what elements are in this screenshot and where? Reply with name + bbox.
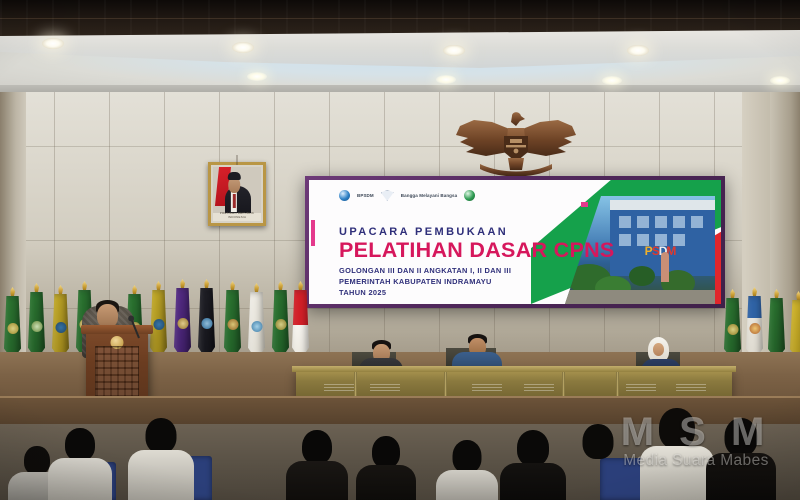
flag-cloth bbox=[768, 298, 785, 360]
ceremonial-flag bbox=[224, 290, 241, 360]
attendee bbox=[500, 430, 566, 500]
head-table-top bbox=[292, 366, 736, 372]
slide-logo-row: BPSDM Bangga Melayani Bangsa bbox=[339, 190, 475, 201]
attendee-head bbox=[659, 408, 695, 449]
attendee-head bbox=[583, 424, 614, 459]
monument-statue bbox=[661, 252, 669, 282]
downlight bbox=[436, 75, 456, 84]
attendee-head bbox=[725, 418, 758, 456]
downlight bbox=[770, 76, 790, 85]
attendee-head bbox=[517, 430, 549, 466]
portrait-image: PRESIDEN REPUBLIK INDONESIA bbox=[213, 167, 261, 221]
attendee-torso bbox=[48, 458, 112, 500]
head-table-vent bbox=[676, 383, 706, 391]
head-table-vent bbox=[524, 383, 554, 391]
flag-emblem bbox=[275, 319, 286, 330]
led-slide: BPSDM BPSDM Bangga Melayani Bangsa bbox=[309, 180, 721, 304]
portrait-hook bbox=[237, 155, 238, 165]
attendee bbox=[356, 436, 416, 500]
national-flag-merah-putih bbox=[292, 290, 309, 360]
attendee-head bbox=[302, 430, 332, 464]
wall-seam bbox=[0, 146, 800, 147]
flag-emblem bbox=[749, 323, 760, 334]
ceremonial-flag bbox=[272, 290, 289, 360]
head-table-vent bbox=[370, 383, 400, 391]
logo-bpsdm-label: BPSDM bbox=[357, 193, 374, 199]
slide-headline: PELATIHAN DASAR CPNS bbox=[339, 239, 609, 262]
portrait-tie bbox=[233, 194, 235, 208]
flag-bank-left bbox=[0, 288, 305, 360]
flag-emblem bbox=[31, 321, 42, 332]
portrait-peci-cap bbox=[228, 172, 240, 180]
attendee bbox=[128, 418, 194, 500]
attendee-torso bbox=[286, 461, 348, 500]
head-table-vent bbox=[626, 383, 656, 391]
head-table-vent bbox=[472, 383, 502, 391]
attendee-torso bbox=[500, 463, 566, 500]
flag-bank-right bbox=[724, 292, 800, 360]
flag-emblem bbox=[227, 319, 238, 330]
ceremonial-flag bbox=[52, 294, 69, 360]
building-window bbox=[619, 216, 631, 228]
flag-emblem bbox=[251, 321, 262, 332]
attendee bbox=[640, 408, 714, 500]
flag-emblem bbox=[727, 324, 738, 335]
attendee-torso bbox=[356, 465, 416, 500]
building-window bbox=[655, 216, 667, 228]
slide-accent-bar bbox=[311, 220, 315, 246]
slide-kicker: UPACARA PEMBUKAAN bbox=[339, 226, 609, 238]
downlight bbox=[602, 76, 622, 85]
building-sign-label: BPSDM bbox=[637, 244, 675, 258]
slide-subline-2: PEMERINTAH KABUPATEN INDRAMAYU bbox=[339, 276, 609, 287]
ceremonial-flag bbox=[198, 288, 215, 360]
downlight bbox=[232, 42, 254, 53]
ceremonial-flag bbox=[174, 288, 191, 360]
attendee bbox=[706, 418, 776, 500]
logo-bpsdm-icon bbox=[339, 190, 350, 201]
slide-text-block: UPACARA PEMBUKAAN PELATIHAN DASAR CPNS G… bbox=[339, 226, 609, 304]
attendee-head bbox=[65, 428, 95, 461]
building-window bbox=[691, 216, 703, 228]
ceremonial-flag bbox=[28, 292, 45, 360]
downlight bbox=[627, 45, 649, 56]
attendee bbox=[436, 440, 498, 500]
attendee-torso bbox=[128, 450, 194, 500]
ceremonial-flag bbox=[724, 298, 741, 360]
flag-emblem bbox=[201, 318, 212, 329]
slide-accent-square bbox=[581, 202, 588, 207]
building-window bbox=[619, 234, 631, 246]
logo-pemkab-indramayu-icon bbox=[464, 190, 475, 201]
logo-bpsdm-caption: BPSDM bbox=[357, 193, 374, 199]
flag-emblem bbox=[153, 319, 164, 330]
attendee bbox=[286, 430, 348, 500]
attendee bbox=[48, 428, 112, 500]
attendee-head bbox=[372, 436, 400, 468]
ceremonial-flag bbox=[790, 300, 800, 360]
logo-bangga-melayani-icon bbox=[381, 190, 394, 201]
slide-subline-3: TAHUN 2025 bbox=[339, 287, 609, 298]
flag-emblem bbox=[7, 323, 18, 334]
attendee-torso bbox=[566, 456, 630, 500]
attendee-head bbox=[24, 446, 50, 475]
portrait-caption-text: PRESIDEN REPUBLIK INDONESIA bbox=[213, 211, 261, 219]
garuda-pancasila-emblem bbox=[452, 108, 580, 182]
attendee-torso bbox=[706, 453, 776, 500]
downlight bbox=[42, 38, 64, 49]
attendee bbox=[566, 424, 630, 500]
flag-emblem bbox=[55, 322, 66, 333]
ceremonial-flag bbox=[248, 292, 265, 360]
logo-bangga-caption: Bangga Melayani Bangsa bbox=[401, 193, 457, 199]
attendee-head bbox=[453, 440, 482, 473]
led-video-wall: BPSDM BPSDM Bangga Melayani Bangsa bbox=[305, 176, 725, 308]
head-table-vent bbox=[324, 383, 354, 391]
building-window bbox=[673, 216, 685, 228]
flag-emblem bbox=[177, 318, 188, 329]
attendee-torso bbox=[640, 446, 714, 500]
official-face bbox=[653, 343, 664, 356]
slide-subline-1: GOLONGAN III DAN II ANGKATAN I, II DAN I… bbox=[339, 265, 609, 276]
photo-scene: PRESIDEN REPUBLIK INDONESIA BPSDM bbox=[0, 0, 800, 500]
ceremonial-flag bbox=[768, 298, 785, 360]
attendee-head bbox=[146, 418, 177, 453]
flag-cloth bbox=[292, 290, 309, 360]
downlight bbox=[247, 72, 267, 81]
podium-top bbox=[81, 325, 153, 334]
attendee-torso bbox=[436, 470, 498, 500]
downlight bbox=[443, 45, 465, 56]
foliage bbox=[629, 266, 655, 286]
ceremonial-flag bbox=[4, 296, 21, 360]
logo-bangga-melayani-label: Bangga Melayani Bangsa bbox=[401, 193, 457, 199]
national-flag-merah-putih bbox=[746, 296, 763, 360]
official-portrait-president: PRESIDEN REPUBLIK INDONESIA bbox=[208, 162, 266, 226]
flag-cloth bbox=[790, 300, 800, 360]
building-window bbox=[637, 216, 649, 228]
